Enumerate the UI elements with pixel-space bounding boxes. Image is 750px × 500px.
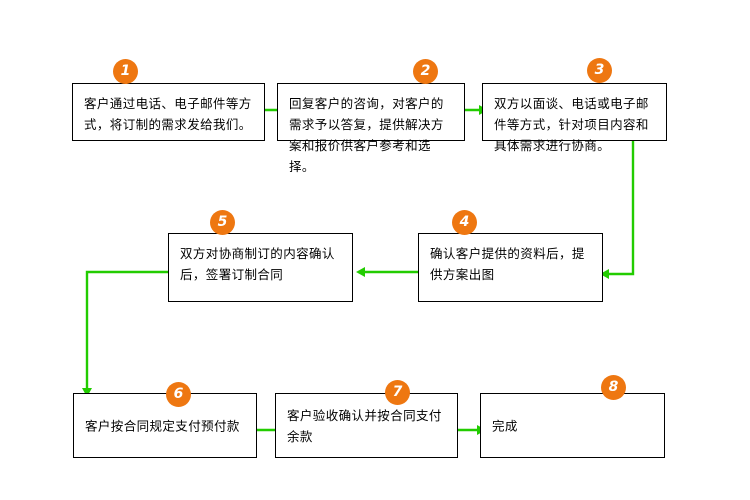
flow-node-step-5[interactable]: 双方对协商制订的内容确认后，签署订制合同 [168, 233, 353, 302]
flow-node-step-5-label: 双方对协商制订的内容确认后，签署订制合同 [180, 243, 344, 285]
step-badge-1: 1 [113, 59, 138, 84]
step-badge-8: 8 [601, 375, 626, 400]
flow-node-step-8[interactable]: 完成 [480, 393, 665, 458]
flow-node-step-8-label: 完成 [492, 415, 656, 436]
step-badge-2: 2 [413, 59, 438, 84]
flow-node-step-4[interactable]: 确认客户提供的资料后，提供方案出图 [418, 233, 603, 302]
flow-node-step-6-label: 客户按合同规定支付预付款 [85, 415, 248, 436]
step-badge-3: 3 [587, 58, 612, 83]
connector-step5-to-step6 [83, 268, 173, 400]
flow-node-step-3[interactable]: 双方以面谈、电话或电子邮件等方式，针对项目内容和具体需求进行协商。 [482, 83, 667, 141]
flow-node-step-4-label: 确认客户提供的资料后，提供方案出图 [430, 243, 594, 285]
flow-node-step-2-label: 回复客户的咨询，对客户的需求予以答复，提供解决方案和报价供客户参考和选择。 [289, 93, 456, 177]
step-badge-5: 5 [210, 210, 235, 235]
flow-node-step-1[interactable]: 客户通过电话、电子邮件等方式，将订制的需求发给我们。 [72, 83, 265, 141]
flow-node-step-2[interactable]: 回复客户的咨询，对客户的需求予以答复，提供解决方案和报价供客户参考和选择。 [277, 83, 465, 141]
page-title: 定制服务流程图 [0, 21, 1, 22]
flow-node-step-3-label: 双方以面谈、电话或电子邮件等方式，针对项目内容和具体需求进行协商。 [494, 93, 658, 156]
step-badge-6: 6 [166, 382, 191, 407]
flow-node-step-6[interactable]: 客户按合同规定支付预付款 [73, 393, 257, 458]
connector-step3-to-step4 [596, 136, 644, 278]
flowchart-canvas: 定制服务流程图 [0, 0, 750, 500]
step-badge-7: 7 [385, 380, 410, 405]
flow-node-step-7[interactable]: 客户验收确认并按合同支付余款 [275, 393, 458, 458]
connector-step4-to-step5 [354, 262, 418, 282]
flow-node-step-7-label: 客户验收确认并按合同支付余款 [287, 405, 449, 447]
step-badge-4: 4 [452, 210, 477, 235]
flow-node-step-1-label: 客户通过电话、电子邮件等方式，将订制的需求发给我们。 [84, 93, 256, 135]
